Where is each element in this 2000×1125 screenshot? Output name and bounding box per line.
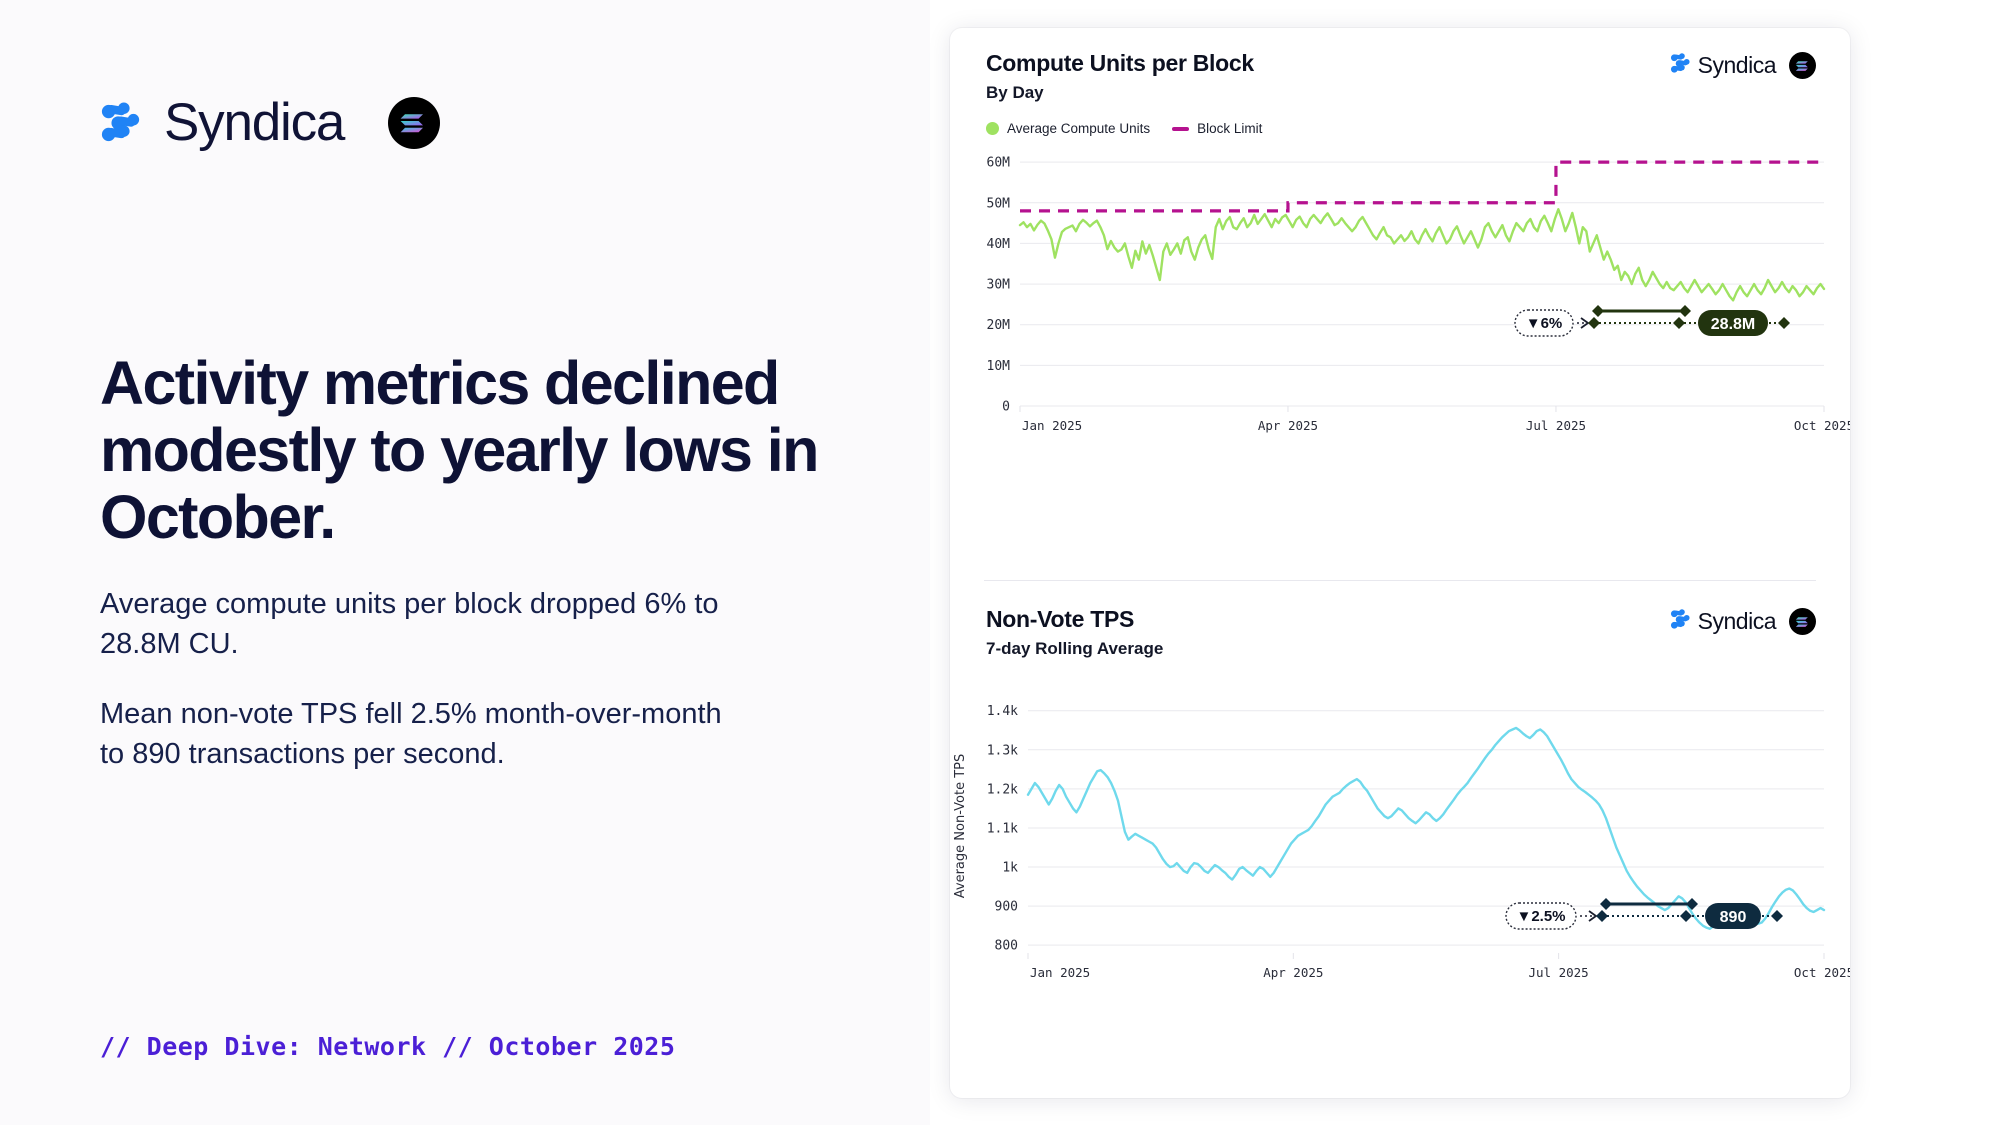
x-tick-label: Oct 2025 [1794, 418, 1850, 433]
chart2-plot[interactable]: 1.4k1.3k1.2k1.1k1k900800Jan 2025Apr 2025… [950, 681, 1850, 1061]
charts-card: Compute Units per Block By Day [950, 28, 1850, 1098]
change-pill-label: ▼6% [1526, 315, 1563, 332]
brand-wordmark: Syndica [164, 96, 344, 149]
series-line-block-limit [1020, 162, 1824, 211]
y-tick-label: 800 [995, 939, 1018, 954]
y-tick-label: 0 [1002, 400, 1010, 415]
syndica-logo-icon [100, 102, 142, 144]
legend-dash-icon [1172, 127, 1189, 131]
y-tick-label: 1.4k [987, 704, 1018, 719]
chart-annotation: ▼6%28.8M [1515, 305, 1790, 336]
x-tick-label: Jul 2025 [1529, 965, 1589, 980]
x-tick-label: Apr 2025 [1263, 965, 1323, 980]
poster-root: Syndica [0, 0, 2000, 1125]
syndica-logo-icon [1670, 609, 1691, 635]
legend-item-block-limit[interactable]: Block Limit [1172, 121, 1262, 136]
y-tick-label: 40M [987, 237, 1011, 252]
brand-lockup: Syndica [100, 96, 440, 149]
panel-divider [984, 580, 1816, 581]
x-tick-label: Oct 2025 [1794, 965, 1850, 980]
chart1-header: Compute Units per Block By Day [950, 50, 1850, 103]
legend-label: Average Compute Units [1007, 121, 1150, 136]
y-tick-label: 1.1k [987, 821, 1018, 836]
left-panel: Syndica [0, 0, 930, 1125]
value-badge-label: 28.8M [1711, 316, 1755, 333]
summary-paragraph-1: Average compute units per block dropped … [100, 584, 740, 664]
x-tick-label: Jul 2025 [1526, 418, 1586, 433]
legend-dot-icon [986, 122, 999, 135]
y-tick-label: 30M [987, 278, 1011, 293]
chart2-header: Non-Vote TPS 7-day Rolling Average [950, 606, 1850, 659]
y-tick-label: 1.2k [987, 782, 1018, 797]
y-tick-label: 1k [1002, 861, 1018, 876]
x-tick-label: Jan 2025 [1030, 965, 1090, 980]
legend-item-average-compute-units[interactable]: Average Compute Units [986, 121, 1150, 136]
legend-label: Block Limit [1197, 121, 1262, 136]
summary-paragraph-2: Mean non-vote TPS fell 2.5% month-over-m… [100, 694, 740, 774]
chart1-subtitle: By Day [986, 83, 1814, 103]
chart1-plot[interactable]: 60M50M40M30M20M10M0Jan 2025Apr 2025Jul 2… [950, 136, 1850, 516]
y-axis-label: Average Non-Vote TPS [953, 754, 968, 898]
y-tick-label: 60M [987, 156, 1011, 171]
chart-annotation: ▼2.5%890 [1506, 898, 1783, 929]
chart1-legend: Average Compute Units Block Limit [950, 121, 1850, 136]
page-title: Activity metrics declined modestly to ye… [100, 350, 860, 551]
x-tick-label: Jan 2025 [1022, 418, 1082, 433]
y-tick-label: 1.3k [987, 743, 1018, 758]
change-pill-label: ▼2.5% [1516, 908, 1565, 925]
chart2-brand-label: Syndica [1698, 608, 1776, 635]
chart1-brand-label: Syndica [1698, 52, 1776, 79]
y-tick-label: 900 [995, 900, 1018, 915]
syndica-logo-icon [1670, 53, 1691, 79]
series-line-average-compute-units [1020, 209, 1824, 300]
solana-badge-icon [1789, 608, 1816, 635]
value-badge-label: 890 [1720, 909, 1747, 926]
chart2-subtitle: 7-day Rolling Average [986, 639, 1814, 659]
footer-tagline: // Deep Dive: Network // October 2025 [100, 1032, 675, 1061]
y-tick-label: 20M [987, 318, 1011, 333]
right-panel: Compute Units per Block By Day [930, 0, 2000, 1125]
chart-panel-compute-units: Compute Units per Block By Day [950, 50, 1850, 570]
chart1-brand: Syndica [1670, 52, 1816, 79]
solana-badge-icon [1789, 52, 1816, 79]
solana-badge-icon [388, 97, 440, 149]
x-tick-label: Apr 2025 [1258, 418, 1318, 433]
y-tick-label: 50M [987, 196, 1011, 211]
chart-panel-non-vote-tps: Non-Vote TPS 7-day Rolling Average [950, 606, 1850, 1096]
y-tick-label: 10M [987, 359, 1011, 374]
chart2-brand: Syndica [1670, 608, 1816, 635]
